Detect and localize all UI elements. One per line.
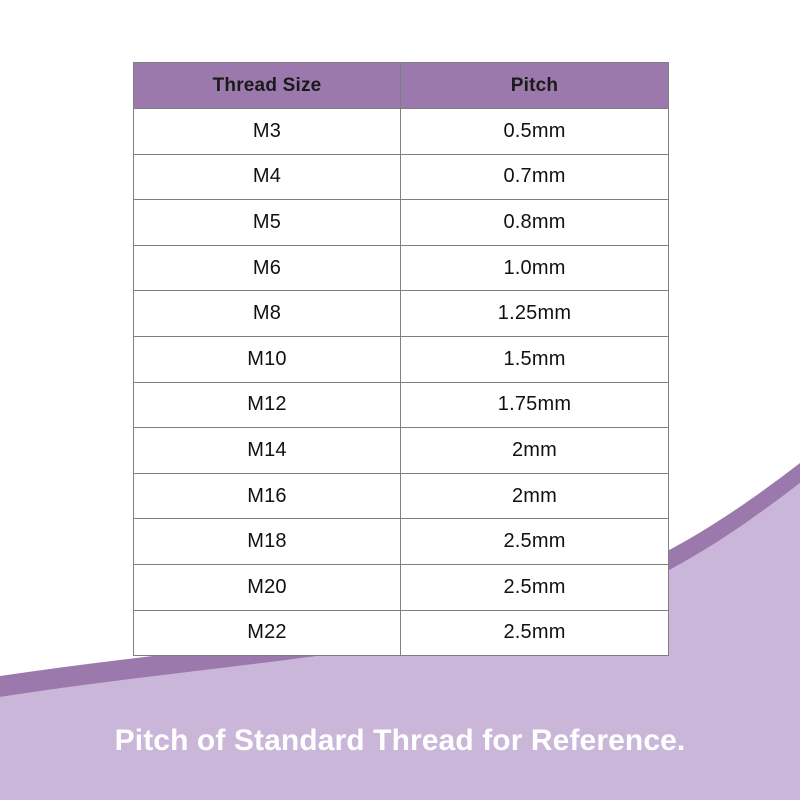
table-row: M14 2mm xyxy=(134,428,669,474)
cell-pitch: 2.5mm xyxy=(401,564,669,610)
table-row: M4 0.7mm xyxy=(134,154,669,200)
cell-pitch: 1.5mm xyxy=(401,336,669,382)
cell-pitch: 1.25mm xyxy=(401,291,669,337)
column-header-thread-size: Thread Size xyxy=(134,63,401,109)
cell-thread-size: M8 xyxy=(134,291,401,337)
table-row: M6 1.0mm xyxy=(134,245,669,291)
table-row: M18 2.5mm xyxy=(134,519,669,565)
cell-thread-size: M10 xyxy=(134,336,401,382)
cell-pitch: 2mm xyxy=(401,428,669,474)
cell-pitch: 0.7mm xyxy=(401,154,669,200)
table-row: M3 0.5mm xyxy=(134,109,669,155)
cell-thread-size: M14 xyxy=(134,428,401,474)
cell-thread-size: M20 xyxy=(134,564,401,610)
cell-thread-size: M6 xyxy=(134,245,401,291)
cell-pitch: 0.8mm xyxy=(401,200,669,246)
poster-canvas: Thread Size Pitch M3 0.5mm M4 0.7mm M5 0… xyxy=(0,0,800,800)
cell-pitch: 1.0mm xyxy=(401,245,669,291)
thread-pitch-table: Thread Size Pitch M3 0.5mm M4 0.7mm M5 0… xyxy=(133,62,669,656)
cell-pitch: 2.5mm xyxy=(401,519,669,565)
table-row: M22 2.5mm xyxy=(134,610,669,656)
cell-thread-size: M18 xyxy=(134,519,401,565)
table-row: M5 0.8mm xyxy=(134,200,669,246)
table-row: M10 1.5mm xyxy=(134,336,669,382)
cell-pitch: 2mm xyxy=(401,473,669,519)
table-row: M12 1.75mm xyxy=(134,382,669,428)
cell-thread-size: M5 xyxy=(134,200,401,246)
cell-pitch: 2.5mm xyxy=(401,610,669,656)
table-row: M20 2.5mm xyxy=(134,564,669,610)
table-row: M8 1.25mm xyxy=(134,291,669,337)
cell-thread-size: M12 xyxy=(134,382,401,428)
column-header-pitch: Pitch xyxy=(401,63,669,109)
thread-pitch-table-container: Thread Size Pitch M3 0.5mm M4 0.7mm M5 0… xyxy=(133,62,668,656)
cell-pitch: 0.5mm xyxy=(401,109,669,155)
table-row: M16 2mm xyxy=(134,473,669,519)
cell-thread-size: M3 xyxy=(134,109,401,155)
footer-caption: Pitch of Standard Thread for Reference. xyxy=(0,723,800,759)
cell-thread-size: M4 xyxy=(134,154,401,200)
cell-thread-size: M22 xyxy=(134,610,401,656)
cell-thread-size: M16 xyxy=(134,473,401,519)
table-header-row: Thread Size Pitch xyxy=(134,63,669,109)
cell-pitch: 1.75mm xyxy=(401,382,669,428)
